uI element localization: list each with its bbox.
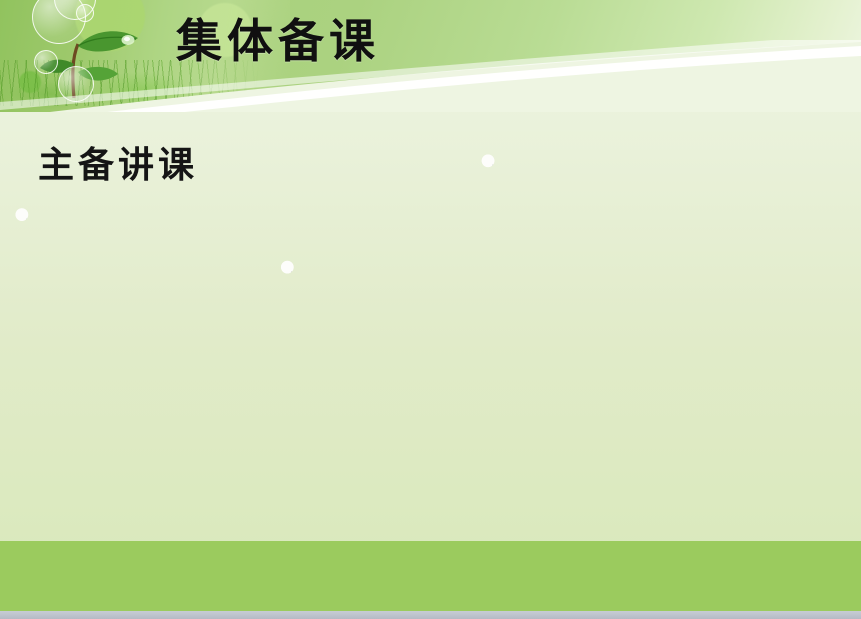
- banner-text: 天天美丽 健康飞: [102, 311, 215, 337]
- bar-value: 45: [462, 415, 476, 420]
- section-title: 主备讲课: [38, 140, 198, 190]
- chalk-text: 十 算 式: [247, 377, 266, 385]
- student: [659, 248, 699, 304]
- teacher-blouse-print: [382, 376, 411, 423]
- student: [677, 315, 748, 386]
- chalk-text: 复习课: [157, 350, 172, 358]
- bar: 22: [422, 435, 437, 450]
- bottom-gray-strip: [0, 611, 861, 619]
- bar-value: 22: [422, 429, 436, 434]
- photo-classroom-male-teacher-walking[interactable]: [481, 128, 853, 397]
- page-title: 集体备课: [176, 8, 380, 74]
- student: [190, 440, 235, 523]
- header-banner: [0, 0, 861, 112]
- bottom-green-band: [0, 541, 861, 611]
- china-flag-icon: ★ ★ ★ ★ ★: [165, 229, 291, 300]
- heart-icon: [721, 155, 735, 169]
- student: [518, 332, 575, 386]
- bar-value: 72: [520, 400, 534, 405]
- bubble-decor: [76, 4, 94, 22]
- bar-value: 66: [501, 403, 515, 408]
- window: [566, 168, 638, 274]
- chalk-text: 应用题: [246, 358, 261, 366]
- photo-image: [492, 140, 840, 386]
- speaker-icon: [306, 303, 340, 346]
- bar-value: 40: [481, 420, 495, 425]
- bulletin-board: [497, 172, 574, 265]
- teacher-torso: [131, 361, 166, 430]
- teacher-skirt: [372, 424, 415, 510]
- bar-value: 5: [441, 441, 455, 446]
- slide-canvas: 集体备课 主备讲课 ★ ★ ★ ★ ★ 天天美丽 健康飞 复习课 1.已: [0, 0, 861, 619]
- teacher-head: [138, 345, 156, 368]
- sprout-icon: [28, 6, 178, 102]
- student: [779, 247, 830, 317]
- student: [738, 233, 782, 289]
- student: [603, 308, 668, 383]
- bubble-decor: [58, 66, 94, 102]
- bubble-decor: [34, 50, 58, 74]
